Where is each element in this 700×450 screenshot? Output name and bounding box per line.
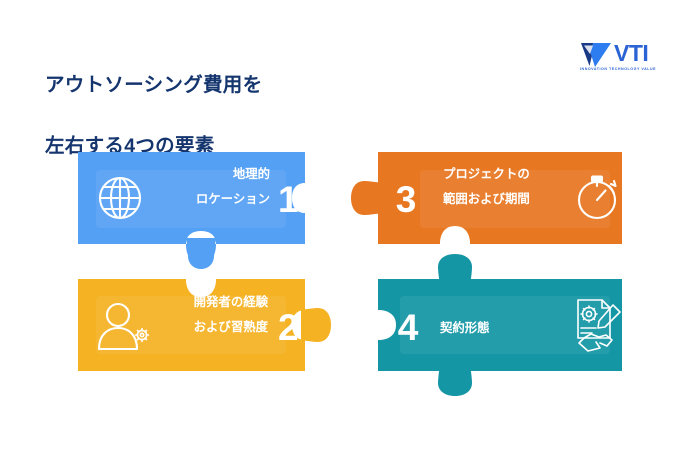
piece-2-label-line-2: および習熟度 (194, 319, 269, 334)
puzzle-piece-1[interactable]: 地理的 ロケーション 1 (78, 152, 305, 269)
vti-v-mark-icon (580, 42, 612, 68)
piece-2-number: 2 (278, 307, 299, 348)
page-title-line-1: アウトソーシング費用を (45, 70, 262, 100)
piece-1-label-line-2: ロケーション (196, 192, 270, 206)
piece-1-label-line-1: 地理的 (233, 166, 270, 181)
puzzle-piece-2-right-tab (301, 308, 331, 342)
piece-3-number: 3 (396, 179, 417, 220)
puzzle-piece-1-bottom-tab (186, 238, 216, 269)
puzzle-piece-3-left-tab (351, 181, 382, 215)
piece-1-number: 1 (278, 179, 299, 220)
slide-canvas: アウトソーシング費用を 左右する4つの要素 VTI INNOVATION TEC… (0, 0, 700, 450)
piece-3-label-line-1: プロジェクトの (443, 166, 530, 181)
piece-2-label-line-1: 開発者の経験 (194, 294, 269, 309)
puzzle-piece-4-top-tab (438, 254, 472, 285)
puzzle-piece-2[interactable]: 開発者の経験 および習熟度 2 (78, 279, 331, 371)
piece-4-label-line-1: 契約形態 (439, 320, 490, 335)
globe-icon (100, 178, 140, 218)
puzzle-piece-3[interactable]: プロジェクトの 範囲および期間 3 (351, 152, 622, 244)
vti-logo: VTI INNOVATION TECHNOLOGY VALUE (580, 40, 672, 78)
piece-4-number: 4 (398, 307, 419, 348)
puzzle-board: 地理的 ロケーション 1 プロジェクトの 範囲および期間 3 (0, 130, 700, 400)
piece-3-label-line-2: 範囲および期間 (443, 191, 530, 206)
vti-wordmark: VTI (614, 40, 648, 66)
vti-tagline: INNOVATION TECHNOLOGY VALUE (580, 67, 656, 71)
puzzle-piece-4-bottom-tab (438, 365, 472, 396)
puzzle-piece-4[interactable]: 契約形態 4 (378, 254, 622, 396)
